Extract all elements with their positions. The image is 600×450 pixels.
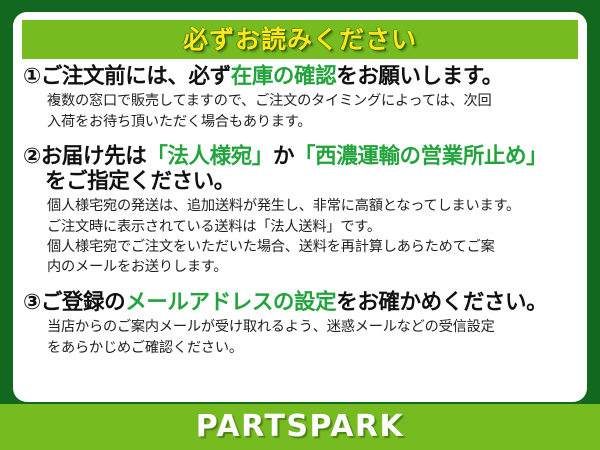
notice-subtext-3: 当店からのご案内メールが受け取れるよう、迷惑メールなどの受信設定をあらかじめご確…: [23, 317, 579, 357]
notice-marker-1: ①: [23, 64, 41, 89]
notice-item-1: ①ご注文前には、必ず在庫の確認をお願いします。 複数の窓口で販売してますので、ご…: [13, 64, 587, 132]
notice-item-3: ③ご登録のメールアドレスの設定をお確かめください。 当店からのご案内メールが受け…: [13, 290, 587, 358]
notice-heading-2-part-1: お届け先は: [41, 144, 147, 169]
notice-subtext-2-line-2: ご注文時に表示されている送料は「法人送料」です。: [47, 217, 579, 237]
notice-subtext-3-line-1: 当店からのご案内メールが受け取れるよう、迷惑メールなどの受信設定: [47, 317, 579, 337]
notice-marker-3: ③: [23, 290, 41, 315]
notice-subtext-3-line-2: をあらかじめご確認ください。: [47, 338, 579, 358]
notice-subtext-1-line-2: 入荷をお待ち頂いただく場合もあります。: [47, 112, 579, 132]
notice-marker-2: ②: [23, 144, 41, 169]
notice-banner: 必ずお読みください ①ご注文前には、必ず在庫の確認をお願いします。 複数の窓口で…: [0, 0, 600, 450]
notice-heading-2-part-4: 「西濃運輸の営業所止め」: [294, 144, 547, 169]
notice-subtext-2-line-1: 個人様宅宛の発送は、追加送料が発生し、非常に高額となってしまいます。: [47, 196, 579, 216]
title-bar: 必ずお読みください: [22, 20, 578, 59]
notice-subtext-2-line-3: 個人様宅宛でご注文をいただいた場合、送料を再計算しあらためてご案: [47, 237, 579, 257]
notice-subtext-1-line-1: 複数の窓口で販売してますので、ご注文のタイミングによっては、次回: [47, 91, 579, 111]
notice-heading-1: ①ご注文前には、必ず在庫の確認をお願いします。: [23, 64, 579, 89]
notice-heading-3-part-1: ご登録の: [41, 290, 125, 315]
notice-heading-2: ②お届け先は「法人様宛」か「西濃運輸の営業所止め」をご指定ください。: [23, 144, 579, 195]
footer-brand-bar: PARTSPARK: [0, 404, 600, 450]
notice-heading-3-part-2: メールアドレスの設定: [125, 290, 336, 315]
notice-heading-2-part-3: か: [273, 144, 294, 169]
notice-heading-1-part-3: をお願いします。: [336, 64, 503, 89]
notice-list: ①ご注文前には、必ず在庫の確認をお願いします。 複数の窓口で販売してますので、ご…: [13, 64, 587, 358]
brand-logo-text: PARTSPARK: [196, 412, 405, 442]
notice-heading-2-part-2: 「法人様宛」: [146, 144, 273, 169]
banner-title: 必ずお読みください: [183, 27, 417, 52]
notice-heading-3-part-3: をお確かめください。: [336, 290, 547, 315]
notice-item-2: ②お届け先は「法人様宛」か「西濃運輸の営業所止め」をご指定ください。 個人様宅宛…: [13, 144, 587, 277]
notice-subtext-2-line-4: 内のメールをお送りします。: [47, 257, 579, 277]
notice-card: 必ずお読みください ①ご注文前には、必ず在庫の確認をお願いします。 複数の窓口で…: [13, 12, 587, 402]
notice-heading-1-part-2: 在庫の確認: [231, 64, 337, 89]
notice-heading-3: ③ご登録のメールアドレスの設定をお確かめください。: [23, 290, 579, 315]
notice-heading-1-part-1: ご注文前には、必ず: [41, 64, 231, 89]
notice-subtext-2: 個人様宅宛の発送は、追加送料が発生し、非常に高額となってしまいます。ご注文時に表…: [23, 196, 579, 277]
notice-heading-2-line-2: をご指定ください。: [23, 169, 579, 194]
notice-subtext-1: 複数の窓口で販売してますので、ご注文のタイミングによっては、次回入荷をお待ち頂い…: [23, 91, 579, 131]
